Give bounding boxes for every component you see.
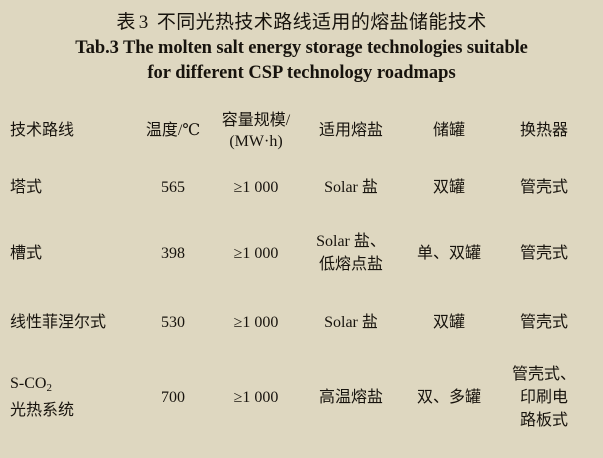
cell-tank: 双、多罐 (401, 356, 497, 438)
caption-english-line2: for different CSP technology roadmaps (0, 61, 603, 86)
table-body: 塔式 565 ≥1 000 Solar 盐 双罐 管壳式 (7, 156, 591, 438)
cell-technology: 槽式 (7, 218, 135, 288)
cell-salt: 高温熔盐 (301, 356, 401, 438)
cell-temperature: 565 (135, 156, 211, 218)
cell-capacity: ≥1 000 (211, 156, 301, 218)
table-figure-page: 表3 不同光热技术路线适用的熔盐储能技术 Tab.3 The molten sa… (0, 0, 603, 458)
table-header-row: 技术路线 温度/℃ 容量规模/ (MW·h) 适用熔盐 储罐 (7, 105, 591, 156)
cell-capacity: ≥1 000 (211, 356, 301, 438)
cell-heat-exchanger: 管壳式 (497, 218, 591, 288)
cell-temperature: 398 (135, 218, 211, 288)
cell-capacity: ≥1 000 (211, 288, 301, 356)
table-caption: 表3 不同光热技术路线适用的熔盐储能技术 Tab.3 The molten sa… (0, 0, 603, 86)
data-table: 技术路线 温度/℃ 容量规模/ (MW·h) 适用熔盐 储罐 (7, 105, 591, 438)
cell-heat-exchanger: 管壳式 (497, 156, 591, 218)
table-row: 线性菲涅尔式 530 ≥1 000 Solar 盐 双罐 管 (7, 288, 591, 356)
caption-chinese-number: 3 (139, 12, 149, 33)
column-header-heat-exchanger: 换热器 (497, 105, 591, 156)
data-table-wrapper: 技术路线 温度/℃ 容量规模/ (MW·h) 适用熔盐 储罐 (7, 105, 591, 438)
table-row: 槽式 398 ≥1 000 Solar 盐、 低熔点盐 单、双罐 (7, 218, 591, 288)
cell-tank: 单、双罐 (401, 218, 497, 288)
cell-temperature: 700 (135, 356, 211, 438)
cell-capacity: ≥1 000 (211, 218, 301, 288)
caption-chinese-label: 表 (116, 12, 135, 33)
cell-salt: Solar 盐、 低熔点盐 (301, 218, 401, 288)
column-header-temperature: 温度/℃ (135, 105, 211, 156)
cell-technology: 线性菲涅尔式 (7, 288, 135, 356)
column-header-capacity: 容量规模/ (MW·h) (211, 105, 301, 156)
table-header: 技术路线 温度/℃ 容量规模/ (MW·h) 适用熔盐 储罐 (7, 105, 591, 156)
cell-heat-exchanger: 管壳式 (497, 288, 591, 356)
cell-tank: 双罐 (401, 288, 497, 356)
column-header-salt: 适用熔盐 (301, 105, 401, 156)
cell-tank: 双罐 (401, 156, 497, 218)
cell-technology: S-CO2 光热系统 (7, 356, 135, 438)
table-row: S-CO2 光热系统 700 ≥1 000 高温熔盐 双、多罐 (7, 356, 591, 438)
cell-heat-exchanger: 管壳式、 印刷电 路板式 (497, 356, 591, 438)
formula-s-co2: S-CO2 (10, 372, 135, 400)
column-header-tank: 储罐 (401, 105, 497, 156)
cell-temperature: 530 (135, 288, 211, 356)
cell-technology: 塔式 (7, 156, 135, 218)
caption-chinese: 表3 不同光热技术路线适用的熔盐储能技术 (0, 9, 603, 36)
caption-english-line1: Tab.3 The molten salt energy storage tec… (0, 36, 603, 61)
cell-salt: Solar 盐 (301, 156, 401, 218)
column-header-technology: 技术路线 (7, 105, 135, 156)
table-row: 塔式 565 ≥1 000 Solar 盐 双罐 管壳式 (7, 156, 591, 218)
caption-chinese-text: 不同光热技术路线适用的熔盐储能技术 (157, 12, 487, 33)
cell-salt: Solar 盐 (301, 288, 401, 356)
